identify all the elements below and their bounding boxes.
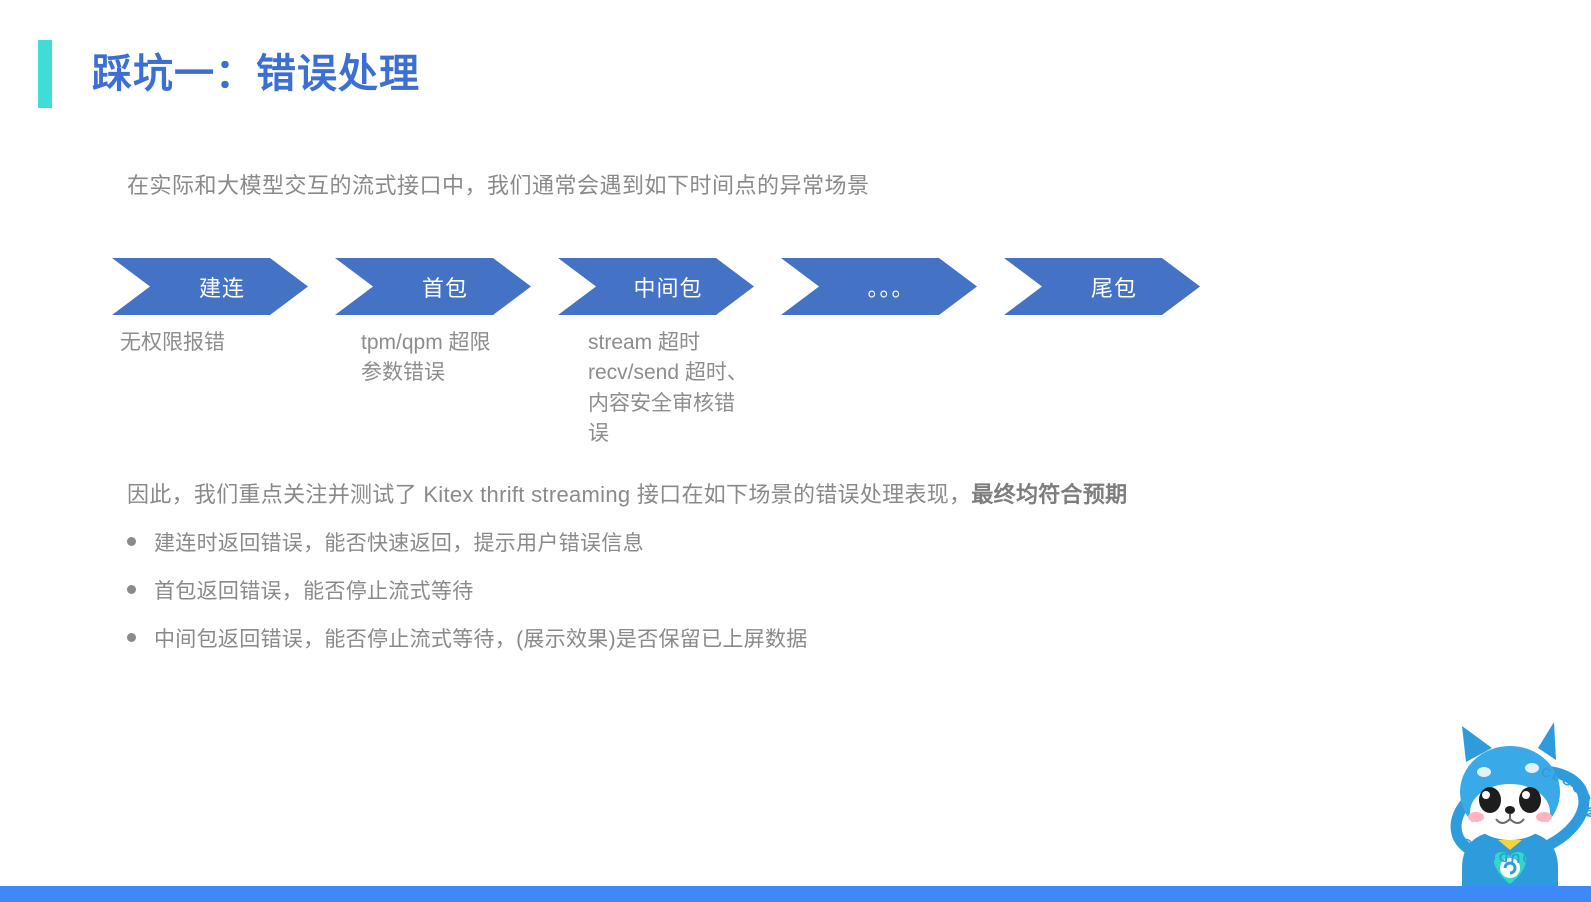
mascot-eye-left (1479, 787, 1501, 813)
list-item: 首包返回错误，能否停止流式等待 (127, 575, 1327, 605)
flow-step-1: 建连 无权限报错 (112, 258, 308, 315)
mascot-cheek-right (1536, 812, 1552, 822)
mascot-highlight-left (1477, 767, 1491, 777)
chevron-label: 中间包 (609, 271, 702, 303)
lead-paragraph: 在实际和大模型交互的流式接口中，我们通常会遇到如下时间点的异常场景 (127, 168, 870, 200)
mascot-cheek-left (1468, 812, 1484, 822)
chevron-label: 建连 (175, 271, 245, 303)
list-item-label: 建连时返回错误，能否快速返回，提示用户错误信息 (154, 527, 644, 557)
bullet-dot-icon (127, 633, 136, 642)
flow-note-3: stream 超时 recv/send 超时、内容安全审核错误 (588, 328, 754, 450)
cloudwego-mascot-logo: CLOUDWEGO CLOUDWEGO (1432, 718, 1591, 902)
page-title: 踩坑一：错误处理 (38, 40, 420, 108)
bullet-dot-icon (127, 537, 136, 546)
chevron-shape: 中间包 (558, 258, 754, 315)
list-item: 中间包返回错误，能否停止流式等待，(展示效果)是否保留已上屏数据 (127, 623, 1327, 653)
chevron-shape: 首包 (335, 258, 531, 315)
flow-step-4: 。。。 (781, 258, 977, 315)
chevron-label: 首包 (398, 271, 468, 303)
flow-step-2: 首包 tpm/qpm 超限 参数错误 (335, 258, 531, 315)
flow-note-line: tpm/qpm 超限 参数错误 (361, 328, 491, 389)
mascot-ear-right (1538, 722, 1556, 760)
chevron-label-ellipsis: 。。。 (843, 271, 914, 303)
mascot-eye-glint-left (1482, 791, 1490, 799)
title-accent-bar (38, 40, 52, 108)
flow-diagram: 建连 无权限报错 首包 tpm/qpm 超限 参数错误 中间包 stream 超… (112, 258, 1200, 315)
slide-canvas: 踩坑一：错误处理 在实际和大模型交互的流式接口中，我们通常会遇到如下时间点的异常… (0, 0, 1591, 902)
mascot-eye-right (1519, 787, 1541, 813)
flow-note-line: stream 超时 recv/send 超时、内容安全审核错误 (588, 328, 754, 450)
title-text: 踩坑一：错误处理 (92, 54, 420, 94)
flow-step-3: 中间包 stream 超时 recv/send 超时、内容安全审核错误 (558, 258, 754, 315)
bullet-list: 建连时返回错误，能否快速返回，提示用户错误信息 首包返回错误，能否停止流式等待 … (127, 527, 1327, 671)
mascot-nose (1505, 806, 1515, 814)
body-paragraph-prefix: 因此，我们重点关注并测试了 Kitex thrift streaming 接口在… (127, 482, 971, 507)
flow-step-5: 尾包 (1004, 258, 1200, 315)
mascot-highlight-right (1525, 763, 1539, 773)
flow-note-2: tpm/qpm 超限 参数错误 (361, 328, 491, 389)
chevron-shape: 。。。 (781, 258, 977, 315)
chevron-shape: 建连 (112, 258, 308, 315)
chevron-label: 尾包 (1067, 271, 1137, 303)
footer-bar (0, 886, 1591, 902)
body-paragraph-emphasis: 最终均符合预期 (971, 482, 1127, 507)
chevron-shape: 尾包 (1004, 258, 1200, 315)
body-paragraph: 因此，我们重点关注并测试了 Kitex thrift streaming 接口在… (127, 477, 1127, 509)
list-item-label: 中间包返回错误，能否停止流式等待，(展示效果)是否保留已上屏数据 (154, 623, 808, 653)
bullet-dot-icon (127, 585, 136, 594)
list-item-label: 首包返回错误，能否停止流式等待 (154, 575, 474, 605)
flow-note-line: 无权限报错 (120, 328, 225, 358)
list-item: 建连时返回错误，能否快速返回，提示用户错误信息 (127, 527, 1327, 557)
flow-note-1: 无权限报错 (120, 328, 225, 358)
mascot-eye-glint-right (1522, 791, 1530, 799)
